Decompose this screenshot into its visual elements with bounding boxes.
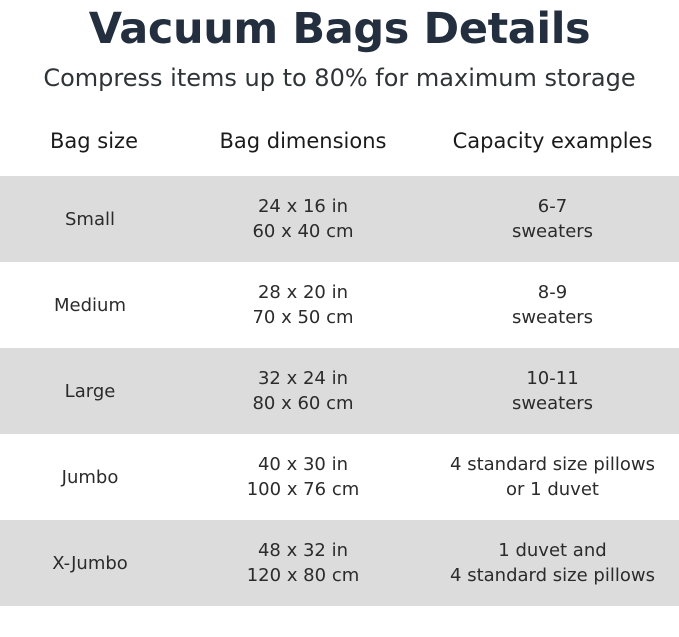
page-subtitle: Compress items up to 80% for maximum sto… bbox=[0, 63, 679, 93]
table-row: Medium 28 x 20 in 70 x 50 cm 8-9 sweater… bbox=[0, 262, 679, 348]
cell-capacity-examples: 4 standard size pillows or 1 duvet bbox=[426, 434, 679, 520]
dimensions-centimeters: 60 x 40 cm bbox=[180, 219, 426, 244]
page-header: Vacuum Bags Details Compress items up to… bbox=[0, 0, 679, 93]
dimensions-centimeters: 80 x 60 cm bbox=[180, 391, 426, 416]
cell-bag-size: Large bbox=[0, 348, 180, 434]
capacity-line-2: sweaters bbox=[426, 391, 679, 416]
bag-specs-table: Bag size Bag dimensions Capacity example… bbox=[0, 128, 679, 606]
capacity-line-1: 10-11 bbox=[426, 366, 679, 391]
cell-bag-size: X-Jumbo bbox=[0, 520, 180, 606]
capacity-line-2: 4 standard size pillows bbox=[426, 563, 679, 588]
dimensions-centimeters: 100 x 76 cm bbox=[180, 477, 426, 502]
cell-bag-size: Jumbo bbox=[0, 434, 180, 520]
capacity-line-1: 4 standard size pillows bbox=[426, 452, 679, 477]
cell-bag-size: Medium bbox=[0, 262, 180, 348]
column-header-bag-dimensions: Bag dimensions bbox=[180, 128, 426, 176]
cell-bag-size: Small bbox=[0, 176, 180, 262]
dimensions-centimeters: 70 x 50 cm bbox=[180, 305, 426, 330]
dimensions-inches: 40 x 30 in bbox=[180, 452, 426, 477]
table-row: Large 32 x 24 in 80 x 60 cm 10-11 sweate… bbox=[0, 348, 679, 434]
dimensions-inches: 48 x 32 in bbox=[180, 538, 426, 563]
dimensions-centimeters: 120 x 80 cm bbox=[180, 563, 426, 588]
cell-capacity-examples: 10-11 sweaters bbox=[426, 348, 679, 434]
cell-bag-dimensions: 32 x 24 in 80 x 60 cm bbox=[180, 348, 426, 434]
capacity-line-1: 1 duvet and bbox=[426, 538, 679, 563]
column-header-capacity-examples: Capacity examples bbox=[426, 128, 679, 176]
capacity-line-2: or 1 duvet bbox=[426, 477, 679, 502]
table-row: X-Jumbo 48 x 32 in 120 x 80 cm 1 duvet a… bbox=[0, 520, 679, 606]
table-header-row: Bag size Bag dimensions Capacity example… bbox=[0, 128, 679, 176]
cell-capacity-examples: 6-7 sweaters bbox=[426, 176, 679, 262]
cell-bag-dimensions: 40 x 30 in 100 x 76 cm bbox=[180, 434, 426, 520]
cell-bag-dimensions: 28 x 20 in 70 x 50 cm bbox=[180, 262, 426, 348]
table-row: Small 24 x 16 in 60 x 40 cm 6-7 sweaters bbox=[0, 176, 679, 262]
table-header: Bag size Bag dimensions Capacity example… bbox=[0, 128, 679, 176]
table-body: Small 24 x 16 in 60 x 40 cm 6-7 sweaters… bbox=[0, 176, 679, 606]
column-header-bag-size: Bag size bbox=[0, 128, 180, 176]
table-row: Jumbo 40 x 30 in 100 x 76 cm 4 standard … bbox=[0, 434, 679, 520]
capacity-line-2: sweaters bbox=[426, 219, 679, 244]
vacuum-bags-details-page: Vacuum Bags Details Compress items up to… bbox=[0, 0, 679, 637]
cell-bag-dimensions: 24 x 16 in 60 x 40 cm bbox=[180, 176, 426, 262]
cell-capacity-examples: 8-9 sweaters bbox=[426, 262, 679, 348]
capacity-line-1: 8-9 bbox=[426, 280, 679, 305]
capacity-line-2: sweaters bbox=[426, 305, 679, 330]
capacity-line-1: 6-7 bbox=[426, 194, 679, 219]
dimensions-inches: 24 x 16 in bbox=[180, 194, 426, 219]
dimensions-inches: 28 x 20 in bbox=[180, 280, 426, 305]
page-title: Vacuum Bags Details bbox=[0, 2, 679, 56]
cell-capacity-examples: 1 duvet and 4 standard size pillows bbox=[426, 520, 679, 606]
cell-bag-dimensions: 48 x 32 in 120 x 80 cm bbox=[180, 520, 426, 606]
dimensions-inches: 32 x 24 in bbox=[180, 366, 426, 391]
